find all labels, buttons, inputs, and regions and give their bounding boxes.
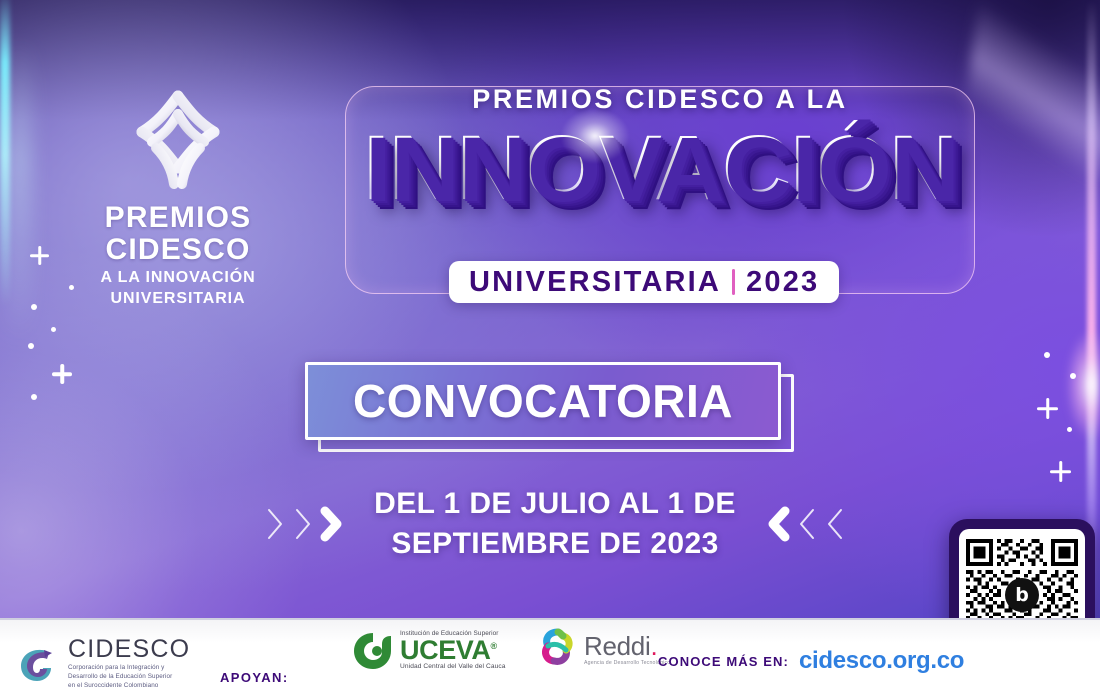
convocatoria-banner: CONVOCATORIA (305, 362, 781, 440)
sparkle-icon (1037, 398, 1058, 419)
sparkle-dot-icon (1067, 427, 1072, 432)
sparkle-icon (52, 364, 72, 384)
title-main-wrap: INNOVACIÓN (300, 120, 1020, 220)
footer-conoce-label: CONOCE MÁS EN: (658, 654, 789, 669)
title-pill-right: 2023 (746, 266, 819, 299)
bitly-logo-icon: b (1005, 578, 1039, 612)
footer-website-block[interactable]: CONOCE MÁS EN: cidesco.org.co (658, 647, 964, 675)
sparkle-dot-icon (51, 327, 56, 332)
chevron-right-icon (290, 502, 316, 546)
cidesco-interlaced-diamond-logo-icon (128, 88, 228, 192)
chevron-left-icon-solid (766, 502, 792, 546)
cidesco-swirl-icon (14, 641, 60, 687)
title-pill-divider (732, 269, 735, 295)
reddi-triskelion-icon (535, 624, 581, 672)
title-main: INNOVACIÓN (286, 120, 1035, 216)
convocatoria-label: CONVOCATORIA (353, 374, 733, 428)
title-pill-left: UNIVERSITARIA (469, 266, 721, 299)
date-text: DEL 1 DE JULIO AL 1 DE SEPTIEMBRE DE 202… (360, 484, 750, 564)
sparkle-dot-icon (69, 285, 74, 290)
chevron-left-icon (822, 502, 848, 546)
footer-website-link[interactable]: cidesco.org.co (799, 647, 964, 675)
footer-uceva-bottom: Unidad Central del Valle del Cauca (400, 664, 506, 671)
footer-uceva-text: Institución de Educación Superior UCEVA®… (400, 631, 506, 671)
brand-lockup: PREMIOS CIDESCO A LA INNOVACIÓN UNIVERSI… (78, 88, 278, 307)
brand-name-line1: PREMIOS (78, 202, 278, 234)
brand-name-line2: CIDESCO (78, 234, 278, 266)
sparkle-dot-icon (28, 343, 34, 349)
footer-cidesco-text: CIDESCO Corporación para la Integración … (68, 636, 190, 691)
title-pill: UNIVERSITARIA 2023 (449, 261, 839, 303)
title-kicker: PREMIOS CIDESCO A LA (345, 84, 975, 115)
footer-uceva-name: UCEVA® (400, 638, 506, 664)
chevron-left-icon (794, 502, 820, 546)
date-line1: DEL 1 DE JULIO AL 1 DE (360, 484, 750, 524)
footer-cidesco-tagline-line3: en el Suroccidente Colombiano (68, 682, 190, 691)
sparkle-dot-icon (31, 394, 37, 400)
chevron-right-icon (262, 502, 288, 546)
footer-cidesco-tagline-line1: Corporación para la Integración y (68, 664, 190, 673)
uceva-leaf-icon (352, 630, 394, 672)
date-row: DEL 1 DE JULIO AL 1 DE SEPTIEMBRE DE 202… (240, 478, 870, 570)
footer-cidesco-logo: CIDESCO Corporación para la Integración … (14, 636, 190, 691)
footer-uceva-logo: Institución de Educación Superior UCEVA®… (352, 630, 506, 672)
cyan-light-streak-soft (6, 40, 32, 340)
chevron-group-right (766, 502, 848, 546)
footer-apoyan-label: APOYAN: (220, 670, 289, 685)
chevron-group-left (262, 502, 344, 546)
footer-cidesco-tagline: Corporación para la Integración y Desarr… (68, 664, 190, 691)
footer-uceva-registered: ® (491, 641, 497, 651)
date-line2: SEPTIEMBRE DE 2023 (360, 524, 750, 564)
brand-sub-line1: A LA INNOVACIÓN (78, 269, 278, 287)
sparkle-dot-icon (1044, 352, 1050, 358)
sparkle-icon (30, 246, 49, 265)
sparkle-dot-icon (1070, 373, 1076, 379)
sparkle-icon (1050, 461, 1071, 482)
footer-reddi-logo: Reddi. Agencia de Desarrollo Tecnológico (535, 624, 670, 672)
chevron-right-icon-solid (318, 502, 344, 546)
bitly-glyph: b (1015, 586, 1029, 605)
poster-canvas: PREMIOS CIDESCO A LA INNOVACIÓN UNIVERSI… (0, 0, 1100, 700)
sparkle-dot-icon (31, 304, 37, 310)
brand-sub-line2: UNIVERSITARIA (78, 290, 278, 308)
pink-light-flare (1066, 330, 1100, 440)
footer-cidesco-tagline-line2: Desarrollo de la Educación Superior (68, 673, 190, 682)
footer-cidesco-name: CIDESCO (68, 636, 190, 662)
